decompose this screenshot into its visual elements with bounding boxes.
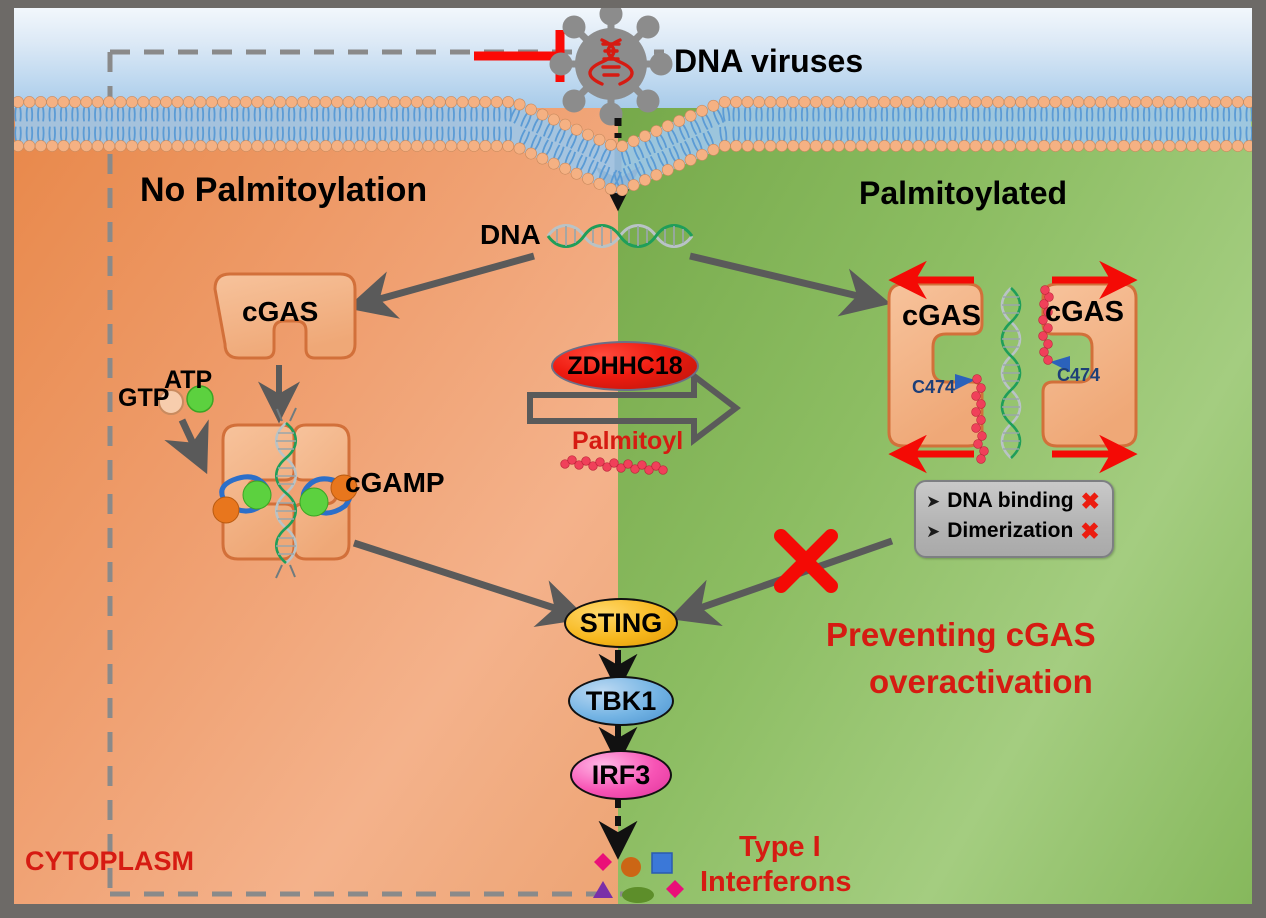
consequence-row-dimerization: ➤ Dimerization ✖	[916, 516, 1112, 546]
interferon-output-line-1: Type I	[739, 831, 821, 864]
panel-title-left: No Palmitoylation	[140, 171, 427, 210]
dna-virus-particle	[553, 8, 669, 122]
cytoplasm-label: CYTOPLASM	[25, 846, 194, 877]
interferon-output-line-2: Interferons	[700, 866, 851, 899]
node-irf3: IRF3	[570, 750, 672, 800]
gtp-label: GTP	[118, 384, 169, 413]
inhibition-bar	[474, 30, 562, 82]
consequences-box: ➤ DNA binding ✖ ➤ Dimerization ✖	[914, 480, 1114, 558]
node-irf3-label: IRF3	[592, 760, 651, 791]
atp-label: ATP	[164, 366, 212, 395]
arrow-dna-to-cgas-left	[358, 256, 534, 305]
zdhhc18-label: ZDHHC18	[567, 352, 682, 381]
palmitoyl-label: Palmitoyl	[572, 427, 683, 456]
arrow-cgamp-to-sting	[354, 543, 576, 615]
node-sting: STING	[564, 598, 678, 648]
outcome-line-1: Preventing cGAS	[826, 616, 1096, 654]
cgas-dimer-left-complex	[213, 408, 357, 578]
cross-mark-icon: ✖	[1081, 488, 1100, 515]
cross-mark-icon: ✖	[1080, 518, 1099, 545]
virus-label: DNA viruses	[674, 43, 863, 80]
palmitoyl-chain-glyph	[561, 456, 668, 475]
cgas-right-right-label: cGAS	[1045, 296, 1124, 329]
node-sting-label: STING	[580, 608, 663, 639]
dna-label: DNA	[480, 219, 541, 251]
node-tbk1: TBK1	[568, 676, 674, 726]
panel-title-right: Palmitoylated	[859, 175, 1067, 212]
cgamp-label: cGAMP	[345, 467, 445, 499]
bullet-icon: ➤	[926, 523, 940, 540]
figure-root: DNA viruses No Palmitoylation Palmitoyla…	[0, 0, 1266, 918]
bullet-icon: ➤	[926, 493, 940, 510]
c474-left-label: C474	[912, 377, 955, 398]
figure-canvas: DNA viruses No Palmitoylation Palmitoyla…	[14, 8, 1252, 904]
consequence-row-dna-binding: ➤ DNA binding ✖	[916, 486, 1112, 516]
consequence-label: DNA binding	[947, 489, 1073, 513]
node-tbk1-label: TBK1	[586, 686, 657, 717]
cytosolic-dna-duplex	[548, 226, 692, 247]
cgas-monomer-left-label: cGAS	[242, 296, 318, 328]
c474-right-label: C474	[1057, 365, 1100, 386]
outcome-line-2: overactivation	[869, 663, 1093, 701]
secreted-interferon-glyphs	[593, 853, 684, 903]
arrow-substrates-into-pocket	[182, 420, 202, 463]
cgas-right-left-label: cGAS	[902, 300, 981, 333]
blocking-x-mark	[781, 536, 831, 586]
zdhhc18-enzyme: ZDHHC18	[551, 341, 699, 391]
arrow-dna-to-cgas-right	[690, 256, 879, 301]
consequence-label: Dimerization	[947, 519, 1073, 543]
